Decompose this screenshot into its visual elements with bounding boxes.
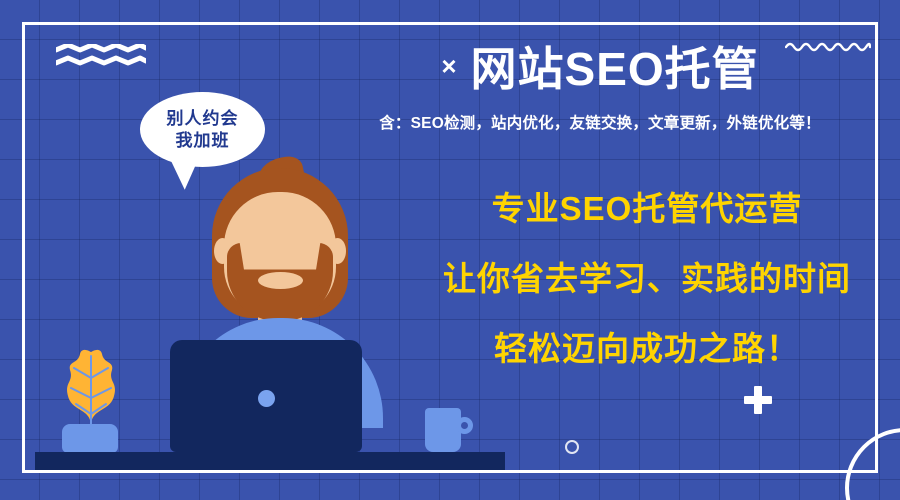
seo-hosting-banner: 别人约会 我加班 × 网站SEO托管 含：SEO检测，站内优化，友链交换，文章更… xyxy=(0,0,900,500)
decorative-frame xyxy=(22,22,878,473)
